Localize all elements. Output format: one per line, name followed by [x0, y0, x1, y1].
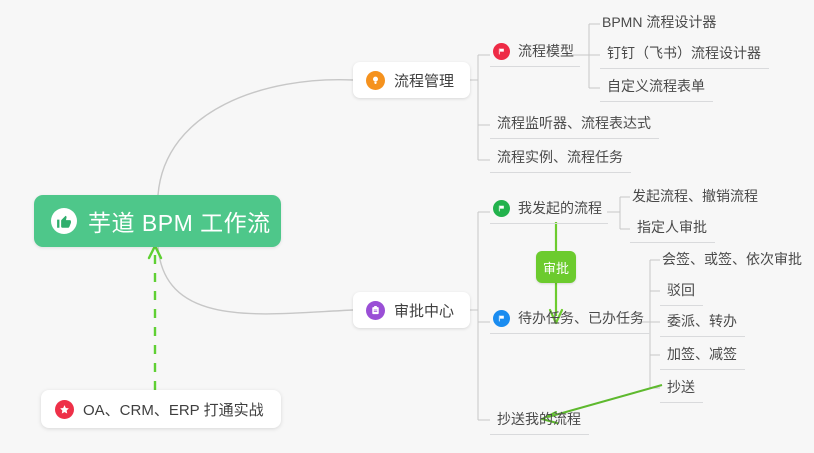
mindmap-canvas: 芋道 BPM 工作流 OA、CRM、ERP 打通实战 流程管理 [0, 0, 814, 453]
edge-root-to-process-management [158, 80, 353, 195]
root-node[interactable]: 芋道 BPM 工作流 [34, 195, 281, 247]
group-label-todo-done-tasks: 待办任务、已办任务 [518, 308, 644, 328]
clipboard-icon [366, 301, 385, 320]
leaf-cc[interactable]: 抄送 [660, 377, 703, 403]
group-node-process-model[interactable]: 流程模型 [490, 41, 580, 67]
tag-label: 审批 [543, 258, 569, 277]
leaf-delegate-transfer[interactable]: 委派、转办 [660, 311, 745, 337]
branch-node-process-management[interactable]: 流程管理 [353, 62, 470, 98]
leaf-cc-to-me[interactable]: 抄送我的流程 [490, 409, 589, 435]
leaf-bpmn-designer[interactable]: BPMN 流程设计器 [600, 12, 724, 36]
flag-icon [493, 310, 510, 327]
group-label-my-initiated: 我发起的流程 [518, 198, 602, 218]
leaf-assignee-approval[interactable]: 指定人审批 [630, 217, 715, 243]
root-label: 芋道 BPM 工作流 [88, 204, 271, 238]
bottom-card-node[interactable]: OA、CRM、ERP 打通实战 [41, 390, 281, 428]
leaf-countersign[interactable]: 会签、或签、依次审批 [660, 249, 810, 273]
leaf-instance-task[interactable]: 流程实例、流程任务 [490, 147, 631, 173]
tag-node-approval[interactable]: 审批 [536, 251, 576, 283]
branch-node-approval-center[interactable]: 审批中心 [353, 292, 470, 328]
star-icon [55, 400, 74, 419]
leaf-start-cancel-process[interactable]: 发起流程、撤销流程 [630, 186, 766, 210]
leaf-listener-expression[interactable]: 流程监听器、流程表达式 [490, 113, 659, 139]
branch-label-process-management: 流程管理 [394, 70, 454, 91]
group-node-my-initiated[interactable]: 我发起的流程 [490, 198, 608, 224]
location-pin-icon [366, 71, 385, 90]
leaf-custom-form[interactable]: 自定义流程表单 [600, 76, 713, 102]
arrowhead-card-to-root [149, 246, 161, 258]
branch-label-approval-center: 审批中心 [394, 300, 454, 321]
bottom-card-label: OA、CRM、ERP 打通实战 [83, 399, 264, 420]
thumbs-up-icon [51, 208, 77, 234]
flag-icon [493, 43, 510, 60]
edge-root-to-approval-center [158, 247, 353, 314]
group-label-process-model: 流程模型 [518, 41, 574, 61]
flag-icon [493, 200, 510, 217]
leaf-dingtalk-designer[interactable]: 钉钉（飞书）流程设计器 [600, 43, 769, 69]
leaf-add-remove-sign[interactable]: 加签、减签 [660, 344, 745, 370]
group-node-todo-done-tasks[interactable]: 待办任务、已办任务 [490, 308, 650, 334]
leaf-reject[interactable]: 驳回 [660, 280, 703, 306]
